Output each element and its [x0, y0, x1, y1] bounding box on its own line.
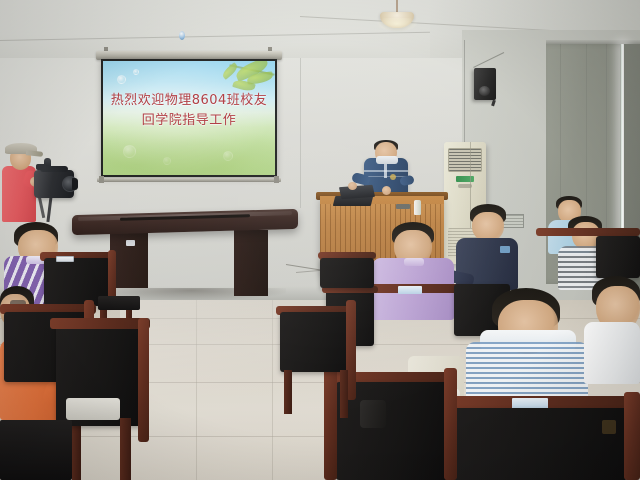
projected-slide: 热烈欢迎物理8604班校友 回学院指导工作 — [103, 61, 275, 175]
screen-bar-tab — [274, 176, 279, 183]
chair-seat-tag — [398, 286, 422, 294]
bag-icon — [360, 400, 386, 428]
chair-leg — [340, 370, 348, 418]
shirt-placket — [384, 162, 387, 178]
photograph-conference-room: 热烈欢迎物理8604班校友 回学院指导工作 — [0, 0, 640, 480]
chair-seat — [0, 420, 72, 480]
attendee-collar — [404, 258, 424, 266]
projection-screen: 热烈欢迎物理8604班校友 回学院指导工作 — [101, 59, 277, 177]
chair-frame-post — [624, 392, 640, 480]
table-leg — [234, 230, 268, 296]
screen-bar-tab — [99, 176, 104, 183]
chair-frame-post — [138, 318, 149, 442]
attendee-collar-detail — [500, 246, 510, 253]
chair-back — [280, 312, 350, 372]
presenter-collar — [376, 156, 398, 164]
lectern-object — [396, 204, 410, 209]
chair-back — [596, 236, 640, 278]
air-conditioner-grille — [448, 148, 482, 172]
chair-emblem — [602, 420, 616, 434]
chair-back — [320, 258, 374, 288]
chair-back — [446, 408, 628, 480]
presenter-hand — [348, 182, 357, 190]
slide-title-line-2: 回学院指导工作 — [103, 111, 275, 131]
projection-screen-weight-bar — [97, 178, 281, 182]
ceiling-sensor-light-icon — [179, 31, 185, 40]
air-conditioner-label — [456, 176, 474, 182]
presenter-hand — [382, 186, 391, 195]
chair-frame — [536, 228, 640, 236]
chair-leg — [120, 418, 131, 480]
slide-title-block: 热烈欢迎物理8604班校友 回学院指导工作 — [103, 91, 275, 131]
camera-lens-hood — [72, 178, 78, 190]
chair-frame-post — [324, 368, 337, 480]
shirt-logo — [390, 174, 396, 180]
speaker-cone — [479, 86, 490, 96]
chair-cushion — [66, 398, 120, 420]
water-bottle — [414, 200, 421, 215]
chair-seat-tag — [56, 256, 74, 262]
pendant-light-glow — [376, 18, 418, 32]
chair-frame — [50, 318, 150, 329]
laptop-screen — [339, 185, 375, 199]
table-label-tag — [126, 240, 135, 246]
wall-panel-seam — [300, 58, 301, 208]
camera-viewfinder — [36, 164, 46, 170]
attendee-shirt-white — [584, 322, 640, 384]
chair-leg — [284, 370, 292, 414]
slide-title-line-1: 热烈欢迎物理8604班校友 — [103, 91, 275, 111]
chair-frame-post — [444, 368, 457, 480]
chair-seat — [98, 296, 140, 310]
